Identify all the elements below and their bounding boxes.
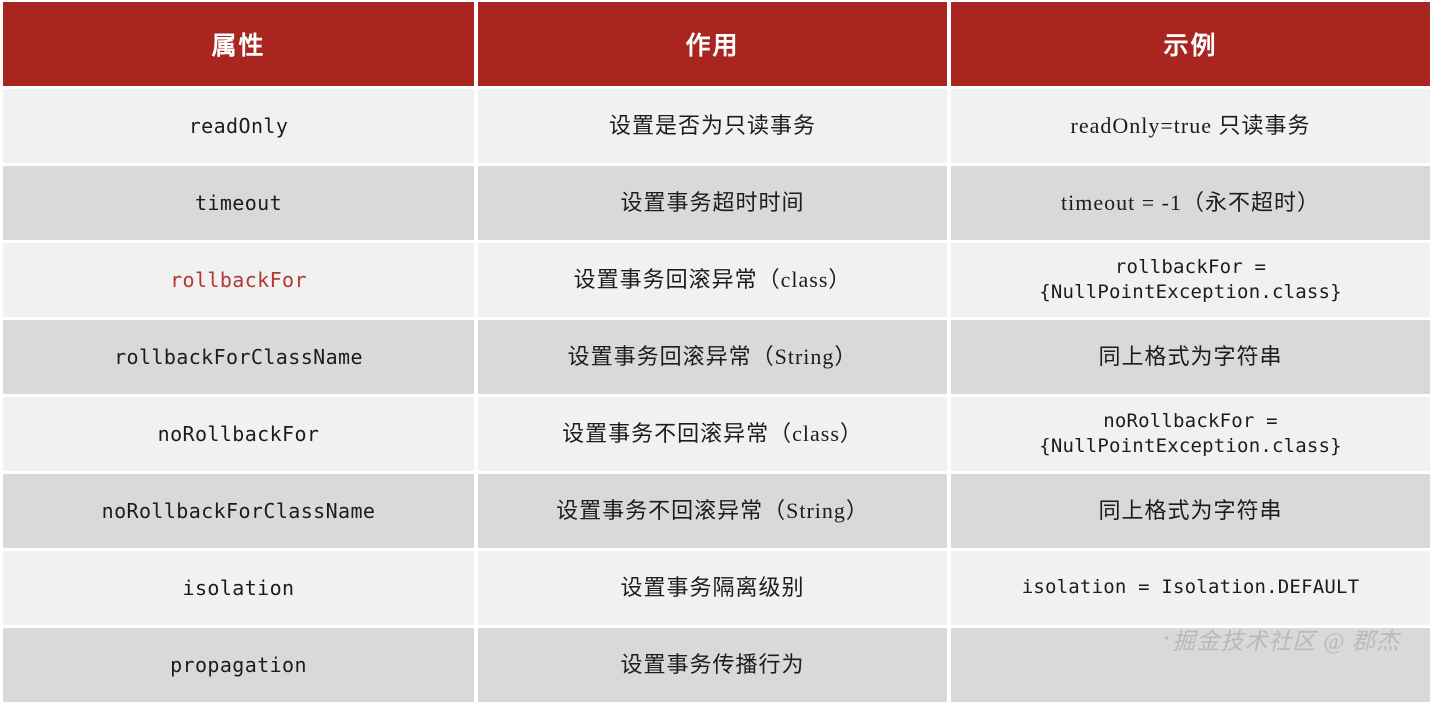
cell-example-line-1: timeout = -1（永不超时） [965,188,1416,217]
cell-example: timeout = -1（永不超时） [951,166,1430,243]
column-header-example: 示例 [951,2,1430,89]
cell-description: 设置事务不回滚异常（String） [478,474,951,551]
table-row: rollbackForClassName 设置事务回滚异常（String） 同上… [0,320,1430,397]
cell-example-line-2: {NullPointException.class} [965,280,1416,305]
table-row: readOnly 设置是否为只读事务 readOnly=true 只读事务 [0,89,1430,166]
cell-example-line-1: noRollbackFor = [965,409,1416,434]
table-row: noRollbackForClassName 设置事务不回滚异常（String）… [0,474,1430,551]
cell-example: noRollbackFor = {NullPointException.clas… [951,397,1430,474]
table-header-row: 属性 作用 示例 [0,2,1430,89]
table-row: noRollbackFor 设置事务不回滚异常（class） noRollbac… [0,397,1430,474]
column-header-attribute: 属性 [0,2,478,89]
cell-example: isolation = Isolation.DEFAULT [951,551,1430,628]
cell-attribute: rollbackForClassName [0,320,478,397]
cell-example: 同上格式为字符串 [951,320,1430,397]
cell-example-line-1: isolation = Isolation.DEFAULT [965,575,1416,600]
cell-example-line-1: 同上格式为字符串 [965,342,1416,371]
table-header: 属性 作用 示例 [0,2,1430,89]
column-header-purpose: 作用 [478,2,951,89]
cell-description: 设置事务回滚异常（String） [478,320,951,397]
cell-example-line-2: {NullPointException.class} [965,434,1416,459]
cell-example [951,628,1430,705]
cell-description: 设置事务隔离级别 [478,551,951,628]
cell-attribute: timeout [0,166,478,243]
cell-description: 设置事务回滚异常（class） [478,243,951,320]
table-row: isolation 设置事务隔离级别 isolation = Isolation… [0,551,1430,628]
cell-attribute: rollbackFor [0,243,478,320]
cell-example-line-1: readOnly=true 只读事务 [965,111,1416,140]
table-row: timeout 设置事务超时时间 timeout = -1（永不超时） [0,166,1430,243]
cell-example: 同上格式为字符串 [951,474,1430,551]
table-body: readOnly 设置是否为只读事务 readOnly=true 只读事务 ti… [0,89,1430,705]
cell-description: 设置事务传播行为 [478,628,951,705]
cell-example: readOnly=true 只读事务 [951,89,1430,166]
table-row: rollbackFor 设置事务回滚异常（class） rollbackFor … [0,243,1430,320]
cell-attribute: propagation [0,628,478,705]
table-row: propagation 设置事务传播行为 [0,628,1430,705]
cell-attribute: noRollbackForClassName [0,474,478,551]
cell-attribute: noRollbackFor [0,397,478,474]
cell-example: rollbackFor = {NullPointException.class} [951,243,1430,320]
cell-description: 设置是否为只读事务 [478,89,951,166]
cell-attribute: readOnly [0,89,478,166]
cell-example-line-1: rollbackFor = [965,255,1416,280]
cell-description: 设置事务不回滚异常（class） [478,397,951,474]
cell-attribute: isolation [0,551,478,628]
cell-description: 设置事务超时时间 [478,166,951,243]
transactional-attribute-table: 属性 作用 示例 readOnly 设置是否为只读事务 readOnly=tru… [0,2,1430,705]
attribute-table-container: 属性 作用 示例 readOnly 设置是否为只读事务 readOnly=tru… [0,0,1430,678]
cell-example-line-1: 同上格式为字符串 [965,496,1416,525]
